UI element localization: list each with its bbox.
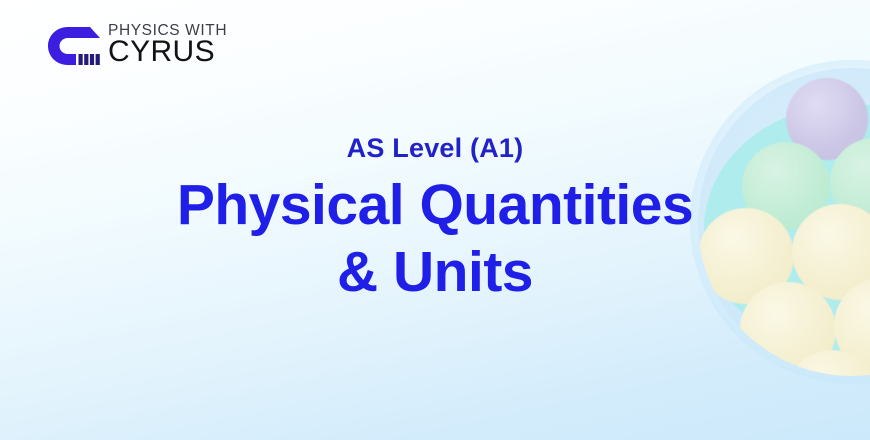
horseshoe-magnet-icon [46,23,102,67]
brand-logo[interactable]: PHYSICS WITH CYRUS [46,16,227,74]
slide-banner: PHYSICS WITH CYRUS AS Level (A1) Physica… [0,0,870,440]
course-level-label: AS Level (A1) [0,132,870,164]
page-title: Physical Quantities & Units [0,172,870,304]
brand-wordmark: PHYSICS WITH CYRUS [108,23,227,68]
headline-block: AS Level (A1) Physical Quantities & Unit… [0,132,870,305]
brand-name: CYRUS [108,37,227,67]
